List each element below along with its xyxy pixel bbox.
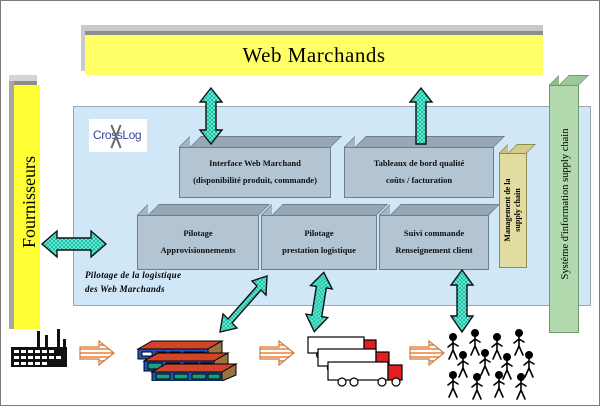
process-box-pilotage-approvisionnements: Pilotage Approvisionnements xyxy=(137,204,259,270)
box-label-line1: Pilotage xyxy=(300,229,337,239)
warehouse-icon xyxy=(136,331,244,386)
box-label-line1: Tableaux de bord qualité xyxy=(370,159,469,169)
box-label-line2: Renseignement client xyxy=(391,246,476,256)
box-label-line2: prestation logistique xyxy=(278,246,360,256)
crosslog-logo: CrossLog xyxy=(89,119,147,152)
box-top-face xyxy=(272,204,388,215)
management-label-line2: supply chain xyxy=(513,188,522,231)
management-supply-chain-label: Management de la supply chain xyxy=(500,148,526,272)
factory-icon xyxy=(9,329,71,374)
web-marchands-label: Web Marchands xyxy=(242,43,385,68)
information-system-label: Système d'information supply chain xyxy=(551,80,579,328)
customers-crowd-icon xyxy=(445,327,541,406)
web-marchands-banner: Web Marchands xyxy=(85,35,543,75)
box-top-face xyxy=(390,204,500,215)
box-front-face: Pilotage Approvisionnements xyxy=(137,215,259,270)
double-arrow-horizontal-suppliers xyxy=(41,228,107,260)
box-top-face xyxy=(148,204,270,215)
block-arrow-right-warehouse-to-trucks xyxy=(259,339,295,367)
box-front-face: Pilotage prestation logistique xyxy=(261,215,377,270)
process-box-suivi-commande: Suivi commande Renseignement client xyxy=(379,204,489,270)
trucks-icon xyxy=(304,331,408,394)
information-system-bar: Système d'information supply chain xyxy=(549,75,579,333)
box-label-line1: Pilotage xyxy=(179,229,216,239)
process-box-tableaux-de-bord: Tableaux de bord qualité coûts / factura… xyxy=(344,136,494,198)
arrow-up-right xyxy=(409,87,433,145)
block-arrow-right-trucks-to-customers xyxy=(409,339,445,367)
block-arrow-right-factory-to-warehouse xyxy=(79,339,115,367)
double-arrow-vertical-left xyxy=(199,87,223,145)
box-label-line2: Approvisionnements xyxy=(157,246,240,256)
box-front-face: Tableaux de bord qualité coûts / factura… xyxy=(344,147,494,198)
double-arrow-vertical-customers xyxy=(449,269,475,333)
box-label-line2: coûts / facturation xyxy=(382,176,456,186)
box-label-line1: Interface Web Marchand xyxy=(205,159,305,169)
box-front-face: Interface Web Marchand (disponibilité pr… xyxy=(179,147,331,198)
box-label-line1: Suivi commande xyxy=(400,229,468,239)
process-box-pilotage-prestation-logistique: Pilotage prestation logistique xyxy=(261,204,377,270)
box-front-face: Suivi commande Renseignement client xyxy=(379,215,489,270)
management-supply-chain-box: Management de la supply chain xyxy=(499,144,527,268)
process-box-interface-web-marchand: Interface Web Marchand (disponibilité pr… xyxy=(179,136,331,198)
diagram-canvas: Web Marchands Fournisseurs CrossLog Inte… xyxy=(0,0,600,406)
box-label-line2: (disponibilité produit, commande) xyxy=(189,176,321,186)
suppliers-label: Fournisseurs xyxy=(14,82,44,322)
management-label-line1: Management de la xyxy=(503,178,512,241)
double-arrow-diagonal-warehouse xyxy=(219,273,271,335)
